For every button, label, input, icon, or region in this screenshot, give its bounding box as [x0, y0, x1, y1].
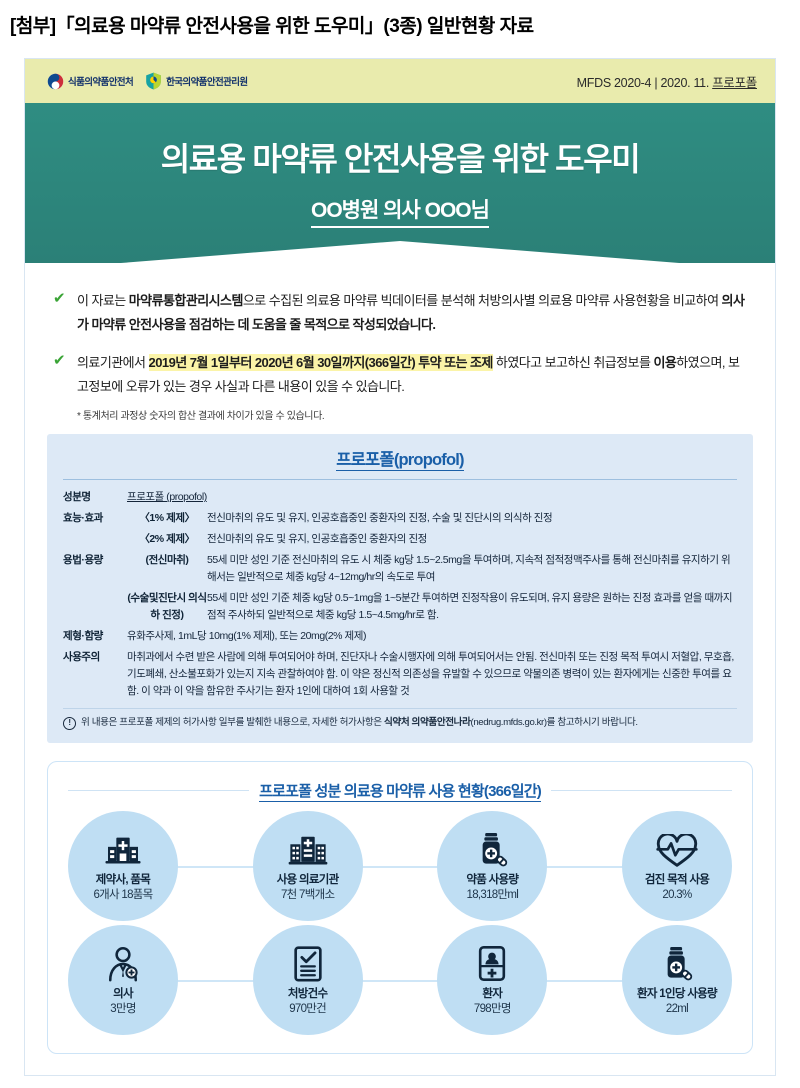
- bullet1-part2: 으로 수집된 의료용 마약류 빅데이터를 분석해 처방의사별 의료용 마약류 사…: [243, 293, 722, 308]
- stat-value: 798만명: [474, 1002, 511, 1017]
- info-row-formulation: 제형·함량 유화주사제, 1mL당 10mg(1% 제제), 또는 20mg(2…: [63, 628, 737, 645]
- stat-value: 3만명: [110, 1002, 135, 1017]
- row-value-text: 프로포폴 (propofol): [127, 491, 207, 503]
- drug-info-title-text: 프로포폴(propofol): [336, 451, 463, 471]
- meta-separator: |: [654, 76, 657, 90]
- bullet-item-1: ✔ 이 자료는 마약류통합관리시스템으로 수집된 의료용 마약류 빅데이터를 분…: [53, 289, 745, 337]
- bullet2-part1: 의료기관에서: [77, 355, 149, 370]
- divider-right: [551, 790, 732, 791]
- stat-name: 환자 1인당 사용량: [637, 987, 717, 1001]
- mfds-logo-label: 식품의약품안전처: [68, 74, 133, 88]
- header-meta: MFDS 2020-4 | 2020. 11. 프로포폴: [577, 72, 757, 91]
- stat-card-prescriptions: 처방건수 970만건: [253, 925, 363, 1035]
- info-icon: !: [63, 717, 76, 730]
- drug-info-title: 프로포폴(propofol): [63, 446, 737, 480]
- hero-banner: 의료용 마약류 안전사용을 위한 도우미 OO병원 의사 OOO님: [25, 103, 775, 263]
- bullet1-bold1: 마약류통합관리시스템: [129, 293, 243, 308]
- document-card: 식품의약품안전처 한국의약품안전관리원 MFDS 2020-4 | 2020. …: [24, 58, 776, 1076]
- stats-title: 프로포폴 성분 의료용 마약류 사용 현황(366일간): [259, 780, 541, 801]
- stat-name: 검진 목적 사용: [645, 873, 709, 887]
- info-row-caution: 사용주의 마취과에서 수련 받은 사람에 의해 투여되어야 하며, 진단자나 수…: [63, 649, 737, 700]
- taegeuk-icon: [47, 73, 64, 90]
- stat-card-doctors: 의사 3만명: [68, 925, 178, 1035]
- check-icon: ✔: [53, 291, 69, 306]
- kids-logo-label: 한국의약품안전관리원: [166, 74, 247, 88]
- stat-name: 환자: [482, 987, 502, 1001]
- hero-subtitle: OO병원 의사 OOO님: [311, 194, 489, 228]
- info-row-dosage-sedation: (수술및진단시 의식하 진정) 55세 미만 성인 기준 체중 kg당 0.5~…: [63, 590, 737, 624]
- row-value: 프로포폴 (propofol): [127, 489, 737, 506]
- hero-title: 의료용 마약류 안전사용을 위한 도우미: [25, 103, 775, 180]
- stats-title-text: 프로포폴 성분 의료용 마약류 사용 현황(366일간): [259, 783, 541, 802]
- dose-bottle-icon: [660, 942, 694, 982]
- stat-row-1: 제약사, 품목 6개사 18품목: [62, 811, 738, 921]
- row-value: 55세 미만 성인 기준 전신마취의 유도 시 체중 kg당 1.5~2.5mg…: [207, 552, 737, 586]
- drug-info-note-text: 위 내용은 프로포폴 제제의 허가사항 일부를 발췌한 내용으로, 자세한 허가…: [81, 716, 638, 730]
- hospital-icon: [287, 828, 329, 868]
- meta-drug: 프로포폴: [712, 76, 757, 90]
- row-value: 유화주사제, 1mL당 10mg(1% 제제), 또는 20mg(2% 제제): [127, 628, 737, 645]
- bullet2-bold2: 이용: [653, 355, 676, 370]
- usage-statistics-panel: 프로포폴 성분 의료용 마약류 사용 현황(366일간): [47, 761, 753, 1054]
- stat-card-drug-volume: 약품 사용량 18,318만ml: [437, 811, 547, 921]
- info-row-efficacy-1: 효능·효과 〈1% 제제〉 전신마취의 유도 및 유지, 인공호흡중인 중환자의…: [63, 510, 737, 527]
- note-bold: 식약처 의약품안전나라: [384, 717, 471, 728]
- logo-group: 식품의약품안전처 한국의약품안전관리원: [47, 72, 248, 90]
- note-suffix: (nedrug.mfds.go.kr)를 참고하시기 바랍니다.: [471, 717, 638, 728]
- row-sublabel: 〈2% 제제〉: [127, 531, 207, 548]
- shield-icon: [145, 72, 162, 90]
- row-value: 55세 미만 성인 기준 체중 kg당 0.5~1mg을 1~5분간 투여하면 …: [207, 590, 737, 624]
- hero-notch-shape: [25, 241, 775, 263]
- stat-card-checkup-usage: 검진 목적 사용 20.3%: [622, 811, 732, 921]
- meta-date: 2020. 11.: [660, 76, 709, 90]
- row-label: 효능·효과: [63, 510, 127, 527]
- row-label: 사용주의: [63, 649, 127, 666]
- stat-name: 의사: [113, 987, 133, 1001]
- stat-name: 처방건수: [288, 987, 328, 1001]
- row-sublabel: (수술및진단시 의식하 진정): [127, 590, 207, 624]
- note-prefix: 위 내용은 프로포폴 제제의 허가사항 일부를 발췌한 내용으로, 자세한 허가…: [81, 717, 384, 728]
- kids-logo: 한국의약품안전관리원: [145, 72, 247, 90]
- mfds-logo: 식품의약품안전처: [47, 73, 133, 90]
- check-icon: ✔: [53, 353, 69, 368]
- meta-code: MFDS 2020-4: [577, 76, 652, 90]
- stat-card-institutions: 사용 의료기관 7천 7백개소: [253, 811, 363, 921]
- row-value: 전신마취의 유도 및 유지, 인공호흡중인 중환자의 진정: [207, 531, 737, 548]
- patient-card-icon: [478, 942, 506, 982]
- heart-pulse-icon: [656, 828, 698, 868]
- row-label: 용법·용량: [63, 552, 127, 569]
- stat-name: 사용 의료기관: [277, 873, 339, 887]
- row-label: 제형·함량: [63, 628, 127, 645]
- stat-name: 제약사, 품목: [96, 873, 150, 887]
- stat-value: 20.3%: [662, 888, 691, 903]
- row-sublabel: (전신마취): [127, 552, 207, 569]
- stats-header: 프로포폴 성분 의료용 마약류 사용 현황(366일간): [68, 780, 732, 801]
- connector-line: [142, 980, 658, 982]
- connector-line: [142, 866, 658, 868]
- stat-value: 22ml: [666, 1002, 688, 1017]
- stat-value: 970만건: [289, 1002, 326, 1017]
- medicine-bottle-icon: [475, 828, 509, 868]
- drug-info-note: ! 위 내용은 프로포폴 제제의 허가사항 일부를 발췌한 내용으로, 자세한 …: [63, 708, 737, 730]
- clipboard-check-icon: [293, 942, 323, 982]
- bullet1-part1: 이 자료는: [77, 293, 129, 308]
- bullet-item-2: ✔ 의료기관에서 2019년 7월 1일부터 2020년 6월 30일까지(36…: [53, 351, 745, 399]
- statistics-footnote: * 통계처리 과정상 숫자의 합산 결과에 차이가 있을 수 있습니다.: [77, 407, 745, 422]
- attachment-title: [첨부]「의료용 마약류 안전사용을 위한 도우미」(3종) 일반현황 자료: [0, 0, 800, 34]
- stat-value: 7천 7백개소: [281, 888, 334, 903]
- drug-info-box: 프로포폴(propofol) 성분명 프로포폴 (propofol) 효능·효과…: [47, 434, 753, 742]
- doctor-icon: [106, 942, 140, 982]
- info-row-ingredient: 성분명 프로포폴 (propofol): [63, 489, 737, 506]
- stat-row-2: 의사 3만명 처방건수 970만건: [62, 925, 738, 1035]
- factory-icon: [103, 828, 143, 868]
- row-value: 전신마취의 유도 및 유지, 인공호흡중인 중환자의 진정, 수술 및 진단시의…: [207, 510, 737, 527]
- bullet2-highlight: 2019년 7월 1일부터 2020년 6월 30일까지(366일간) 투약 또…: [149, 354, 493, 371]
- row-sublabel: 〈1% 제제〉: [127, 510, 207, 527]
- info-row-dosage-general: 용법·용량 (전신마취) 55세 미만 성인 기준 전신마취의 유도 시 체중 …: [63, 552, 737, 586]
- stat-card-manufacturers: 제약사, 품목 6개사 18품목: [68, 811, 178, 921]
- stat-card-patients: 환자 798만명: [437, 925, 547, 1035]
- stat-name: 약품 사용량: [466, 873, 518, 887]
- bullet-text-1: 이 자료는 마약류통합관리시스템으로 수집된 의료용 마약류 빅데이터를 분석해…: [77, 289, 745, 337]
- stat-card-per-patient-dose: 환자 1인당 사용량 22ml: [622, 925, 732, 1035]
- row-label: 성분명: [63, 489, 127, 506]
- bullet2-part2: 하였다고 보고하신 취급정보를: [493, 355, 654, 370]
- info-row-efficacy-2: 〈2% 제제〉 전신마취의 유도 및 유지, 인공호흡중인 중환자의 진정: [63, 531, 737, 548]
- header-band: 식품의약품안전처 한국의약품안전관리원 MFDS 2020-4 | 2020. …: [25, 59, 775, 103]
- bullet-text-2: 의료기관에서 2019년 7월 1일부터 2020년 6월 30일까지(366일…: [77, 351, 745, 399]
- intro-bullets: ✔ 이 자료는 마약류통합관리시스템으로 수집된 의료용 마약류 빅데이터를 분…: [25, 263, 775, 422]
- row-value: 마취과에서 수련 받은 사람에 의해 투여되어야 하며, 진단자나 수술시행자에…: [127, 649, 737, 700]
- divider-left: [68, 790, 249, 791]
- stat-value: 18,318만ml: [467, 888, 519, 903]
- stat-value: 6개사 18품목: [93, 888, 152, 903]
